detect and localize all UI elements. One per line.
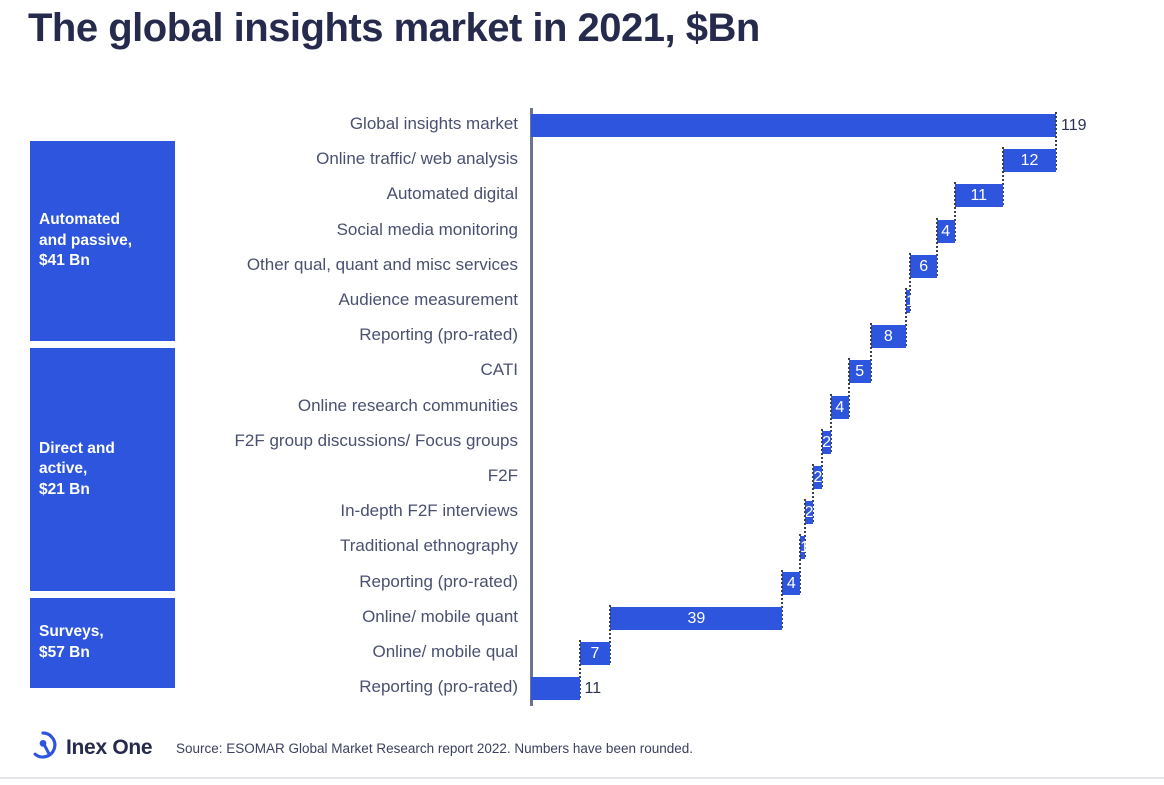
source-note: Source: ESOMAR Global Market Research re… xyxy=(176,741,693,756)
waterfall-row: 4Online research communities xyxy=(0,390,1164,425)
category-label: Reporting (pro-rated) xyxy=(359,677,518,697)
waterfall-row: 2F2F xyxy=(0,460,1164,495)
bar-other-qual-quant-and-misc-services[interactable] xyxy=(910,255,936,278)
footer-divider xyxy=(0,777,1164,779)
bar-cati[interactable] xyxy=(849,360,871,383)
waterfall-row: 11Reporting (pro-rated) xyxy=(0,671,1164,706)
category-label: Reporting (pro-rated) xyxy=(359,325,518,345)
category-label: In-depth F2F interviews xyxy=(340,501,518,521)
bar-f2f[interactable] xyxy=(813,466,822,489)
category-label: Audience measurement xyxy=(338,290,518,310)
bar-value-label: 119 xyxy=(1061,114,1087,137)
category-label: F2F xyxy=(488,466,518,486)
bar-f2f-group-discussions-focus-groups[interactable] xyxy=(822,431,831,454)
bar-social-media-monitoring[interactable] xyxy=(937,220,955,243)
waterfall-row: 8Reporting (pro-rated) xyxy=(0,319,1164,354)
category-label: Online/ mobile quant xyxy=(362,607,518,627)
waterfall-row: 11Automated digital xyxy=(0,178,1164,213)
category-label: Online research communities xyxy=(298,396,518,416)
category-label: Social media monitoring xyxy=(337,220,518,240)
brand-name: Inex One xyxy=(66,736,152,760)
category-label: Online/ mobile qual xyxy=(372,642,518,662)
waterfall-row: 1Traditional ethnography xyxy=(0,530,1164,565)
waterfall-row: 119Global insights market xyxy=(0,108,1164,143)
bar-reporting-pro-rated[interactable] xyxy=(531,677,580,700)
waterfall-row: 4Reporting (pro-rated) xyxy=(0,566,1164,601)
waterfall-row: 6Other qual, quant and misc services xyxy=(0,249,1164,284)
bar-reporting-pro-rated[interactable] xyxy=(782,572,800,595)
category-label: Other qual, quant and misc services xyxy=(247,255,518,275)
bar-automated-digital[interactable] xyxy=(955,184,1004,207)
category-label: Online traffic/ web analysis xyxy=(316,149,518,169)
category-label: Automated digital xyxy=(387,184,518,204)
bar-reporting-pro-rated[interactable] xyxy=(871,325,906,348)
waterfall-row: 7Online/ mobile qual xyxy=(0,636,1164,671)
waterfall-row: 39Online/ mobile quant xyxy=(0,601,1164,636)
category-label: CATI xyxy=(481,360,518,380)
bar-global-insights-market[interactable] xyxy=(531,114,1056,137)
bar-in-depth-f2f-interviews[interactable] xyxy=(805,501,814,524)
waterfall-chart: 119Global insights market12Online traffi… xyxy=(0,0,1164,785)
category-label: Traditional ethnography xyxy=(340,536,518,556)
footer: Inex One Source: ESOMAR Global Market Re… xyxy=(0,722,1164,785)
bar-value-label: 11 xyxy=(585,677,602,700)
category-label: Reporting (pro-rated) xyxy=(359,572,518,592)
category-label: Global insights market xyxy=(350,114,518,134)
category-label: F2F group discussions/ Focus groups xyxy=(235,431,518,451)
inex-one-mark-icon xyxy=(28,730,58,765)
bar-online-mobile-qual[interactable] xyxy=(580,642,611,665)
waterfall-row: 1Audience measurement xyxy=(0,284,1164,319)
bar-online-research-communities[interactable] xyxy=(831,396,849,419)
waterfall-row: 5CATI xyxy=(0,354,1164,389)
waterfall-row: 2In-depth F2F interviews xyxy=(0,495,1164,530)
waterfall-row: 2F2F group discussions/ Focus groups xyxy=(0,425,1164,460)
bar-online-traffic-web-analysis[interactable] xyxy=(1003,149,1056,172)
waterfall-row: 12Online traffic/ web analysis xyxy=(0,143,1164,178)
waterfall-row: 4Social media monitoring xyxy=(0,214,1164,249)
brand-logo: Inex One xyxy=(28,730,152,765)
bar-online-mobile-quant[interactable] xyxy=(610,607,782,630)
